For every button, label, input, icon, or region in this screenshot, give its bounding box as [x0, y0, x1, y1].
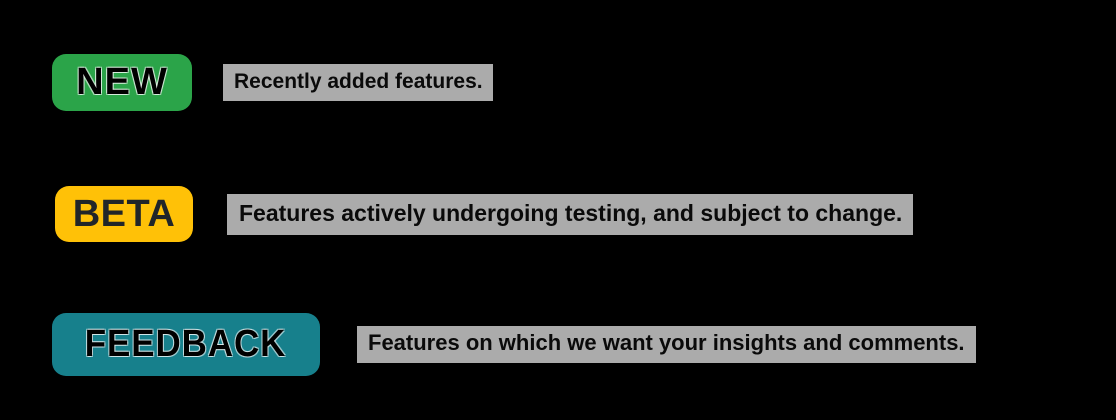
status-badge-new[interactable]: NEW: [52, 54, 192, 111]
feature-status-legend: NEW Recently added features. BETA Featur…: [0, 0, 1116, 420]
status-description-beta: Features actively undergoing testing, an…: [227, 194, 913, 235]
status-description-new: Recently added features.: [223, 64, 493, 101]
status-description-beta-text: Features actively undergoing testing, an…: [239, 202, 902, 225]
status-description-feedback: Features on which we want your insights …: [357, 326, 976, 363]
legend-row-feedback: FEEDBACK Features on which we want your …: [0, 305, 1116, 383]
status-description-new-text: Recently added features.: [234, 71, 483, 92]
legend-row-new: NEW Recently added features.: [0, 45, 1116, 119]
status-badge-new-label: NEW: [76, 63, 168, 101]
status-badge-feedback[interactable]: FEEDBACK: [52, 313, 320, 376]
status-badge-beta[interactable]: BETA: [55, 186, 193, 242]
status-badge-beta-label: BETA: [73, 195, 176, 233]
status-badge-feedback-label: FEEDBACK: [85, 325, 287, 363]
status-description-feedback-text: Features on which we want your insights …: [368, 332, 965, 354]
legend-row-beta: BETA Features actively undergoing testin…: [0, 178, 1116, 250]
